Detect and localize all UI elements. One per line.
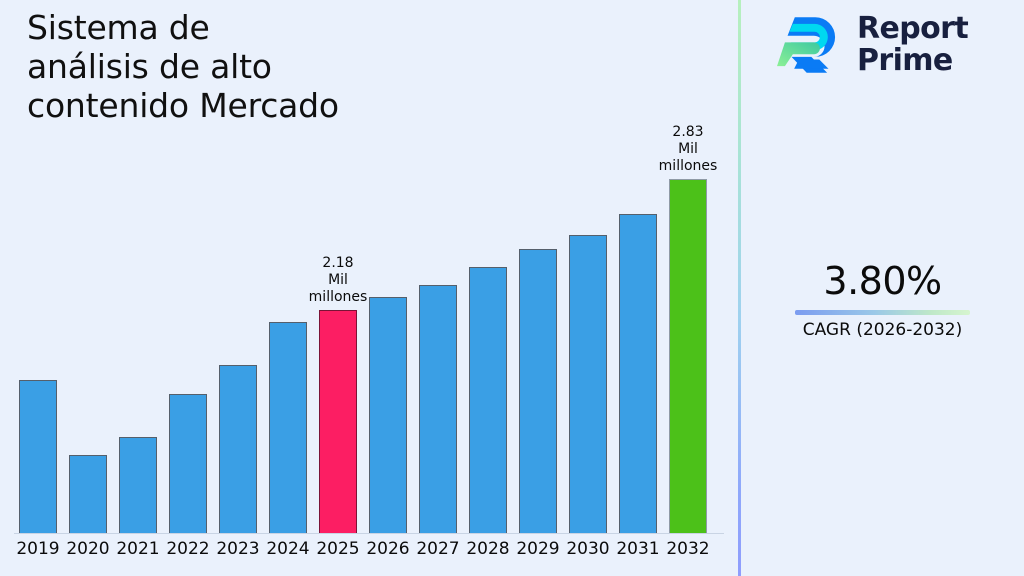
brand-name: Report Prime — [857, 13, 968, 77]
x-tick-2027: 2027 — [412, 539, 464, 559]
x-tick-2028: 2028 — [462, 539, 514, 559]
bar-2028 — [469, 267, 507, 533]
x-tick-2029: 2029 — [512, 539, 564, 559]
x-tick-2031: 2031 — [612, 539, 664, 559]
bar-2027 — [419, 285, 457, 533]
brand-panel: Report Prime 3.80% CAGR (2026-2032) — [741, 0, 1024, 576]
bar-2030 — [569, 235, 607, 533]
x-tick-2020: 2020 — [62, 539, 114, 559]
x-tick-2032: 2032 — [662, 539, 714, 559]
x-tick-2024: 2024 — [262, 539, 314, 559]
bar-2026 — [369, 297, 407, 533]
bar-2029 — [519, 249, 557, 533]
bar-2019 — [19, 380, 57, 533]
x-tick-2023: 2023 — [212, 539, 264, 559]
cagr-caption: CAGR (2026-2032) — [741, 319, 1024, 341]
x-tick-2026: 2026 — [362, 539, 414, 559]
x-tick-2019: 2019 — [12, 539, 64, 559]
cagr-divider-rule — [795, 310, 970, 315]
bar-2021 — [119, 437, 157, 533]
bar-2025 — [319, 310, 357, 533]
x-tick-2030: 2030 — [562, 539, 614, 559]
cagr-block: 3.80% CAGR (2026-2032) — [741, 258, 1024, 341]
bar-2023 — [219, 365, 257, 533]
x-axis-line — [14, 533, 724, 534]
x-tick-2025: 2025 — [312, 539, 364, 559]
chart-panel: Sistema de análisis de alto contenido Me… — [0, 0, 738, 576]
bar-2031 — [619, 214, 657, 533]
cagr-value: 3.80% — [741, 258, 1024, 304]
brand-logo: Report Prime — [777, 12, 968, 78]
x-tick-2021: 2021 — [112, 539, 164, 559]
bar-2020 — [69, 455, 107, 533]
infographic-slide: Sistema de análisis de alto contenido Me… — [0, 0, 1024, 576]
bar-chart: 2019202020212022202320242.18 Mil millone… — [0, 0, 738, 576]
bar-2022 — [169, 394, 207, 533]
report-prime-r-logo-icon — [777, 12, 843, 78]
bar-2032 — [669, 179, 707, 533]
bar-value-label-2032: 2.83 Mil millones — [640, 124, 736, 175]
x-tick-2022: 2022 — [162, 539, 214, 559]
bar-2024 — [269, 322, 307, 533]
